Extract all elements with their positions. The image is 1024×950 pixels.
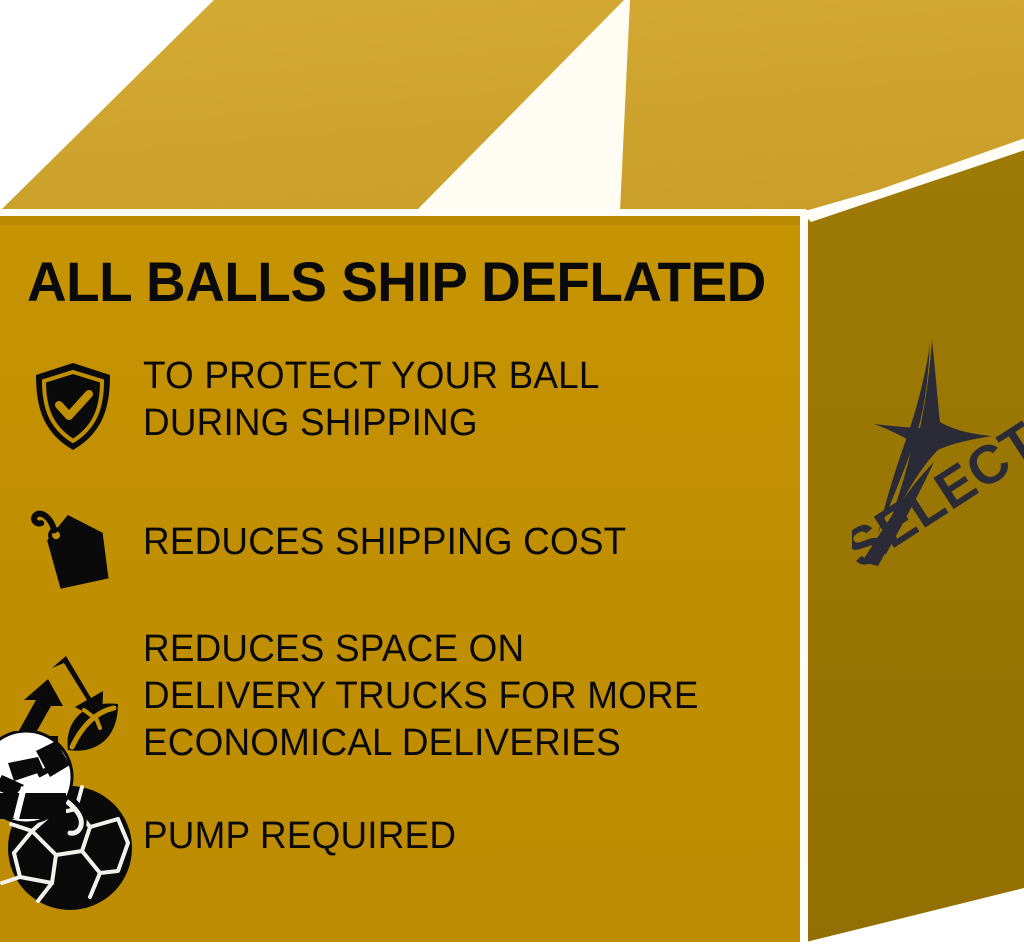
bullet-text: PUMP REQUIRED — [143, 813, 456, 860]
price-tag-icon — [27, 498, 119, 603]
bullet-line: REDUCES SPACE ON — [143, 626, 699, 673]
bullet-line: DURING SHIPPING — [143, 400, 600, 447]
box-front-content: ALL BALLS SHIP DEFLATED TO PROTECT YOUR … — [0, 225, 806, 942]
shipping-box-image: ALL BALLS SHIP DEFLATED TO PROTECT YOUR … — [0, 0, 1024, 950]
bullet-line: REDUCES SHIPPING COST — [143, 519, 626, 566]
bullet-line: DELIVERY TRUCKS FOR MORE — [143, 673, 699, 720]
bullet-text: TO PROTECT YOUR BALL DURING SHIPPING — [143, 353, 600, 447]
box-edge-lid-front — [0, 209, 806, 216]
box-front-flap-edge — [0, 216, 806, 225]
bullet-text: REDUCES SHIPPING COST — [143, 519, 626, 566]
headline: ALL BALLS SHIP DEFLATED — [27, 249, 766, 314]
bullet-line: ECONOMICAL DELIVERIES — [143, 720, 699, 767]
ball-pump-icon — [0, 731, 158, 921]
bullet-line: PUMP REQUIRED — [143, 813, 456, 860]
shield-check-icon — [32, 361, 114, 458]
bullet-text: REDUCES SPACE ON DELIVERY TRUCKS FOR MOR… — [143, 626, 699, 767]
bullet-line: TO PROTECT YOUR BALL — [143, 353, 600, 400]
select-logo: SELECT — [852, 338, 1024, 608]
